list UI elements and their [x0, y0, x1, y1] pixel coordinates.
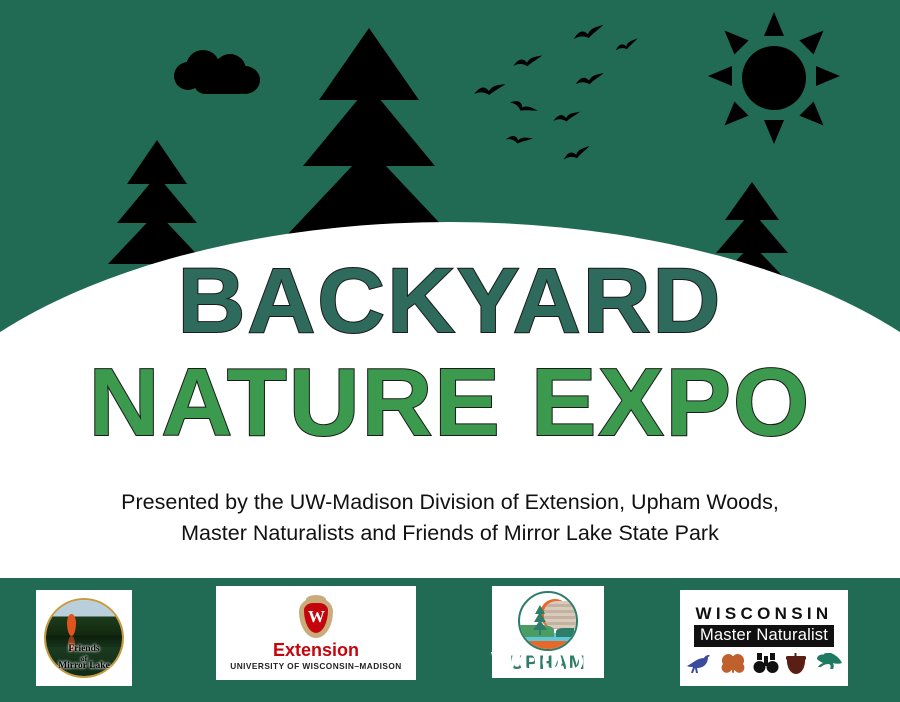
extension-subline: UNIVERSITY OF WISCONSIN–MADISON: [230, 661, 401, 671]
logo-uw-madison-extension: W Extension UNIVERSITY OF WISCONSIN–MADI…: [216, 586, 416, 680]
acorn-icon: [785, 653, 807, 675]
extension-wordmark: Extension: [273, 641, 359, 660]
bird-icon: [685, 653, 713, 675]
mirror-lake-caption: Friends of Mirror Lake: [36, 645, 132, 672]
uw-crest-icon: W: [299, 595, 333, 639]
bird-icon: [511, 54, 544, 70]
frog-icon: [813, 653, 843, 675]
bird-icon: [472, 83, 509, 99]
cloud-icon: [172, 48, 268, 94]
poster: BACKYARD NATURE EXPO Presented by the UW…: [0, 0, 900, 702]
crest-letter-w: W: [308, 608, 324, 625]
binoculars-icon: [753, 653, 779, 675]
page-title-line-2: NATURE EXPO: [0, 357, 900, 448]
bird-icon: [552, 111, 583, 126]
mirror-lake-photo: Friends of Mirror Lake: [36, 590, 132, 686]
logo-upham-woods: UPHAM WOODS: [492, 586, 604, 678]
logo-friends-of-mirror-lake: Friends of Mirror Lake: [36, 590, 132, 686]
sun-icon: [706, 10, 842, 146]
pine-tree-icon: [288, 28, 450, 248]
subtitle-line-2: Master Naturalists and Friends of Mirror…: [0, 518, 900, 549]
bird-icon: [561, 145, 593, 165]
woods-wordmark: WOODS: [486, 648, 610, 676]
poster-title-group: BACKYARD NATURE EXPO: [0, 258, 900, 449]
logo-wisconsin-master-naturalist: WISCONSIN Master Naturalist: [680, 590, 848, 686]
bird-icon: [504, 131, 534, 150]
wisconsin-wordmark: WISCONSIN: [696, 605, 833, 622]
naturalist-icon-row: [685, 653, 843, 675]
pine-tree-icon: [108, 140, 206, 268]
poster-subtitle: Presented by the UW-Madison Division of …: [0, 487, 900, 548]
bird-icon: [571, 24, 607, 45]
page-title-line-1: BACKYARD: [0, 258, 900, 345]
bird-icon: [573, 72, 606, 89]
butterfly-icon: [719, 653, 747, 675]
bluffs-emblem: [544, 601, 576, 629]
bird-icon: [506, 94, 540, 123]
pine-tree-emblem-icon: [533, 605, 547, 635]
master-naturalist-wordmark: Master Naturalist: [694, 625, 834, 646]
shore-emblem-right: [556, 628, 574, 637]
subtitle-line-1: Presented by the UW-Madison Division of …: [0, 487, 900, 518]
upham-woods-emblem-icon: [518, 591, 578, 651]
bird-icon: [613, 37, 641, 55]
fml-line-3: Mirror Lake: [36, 662, 132, 672]
